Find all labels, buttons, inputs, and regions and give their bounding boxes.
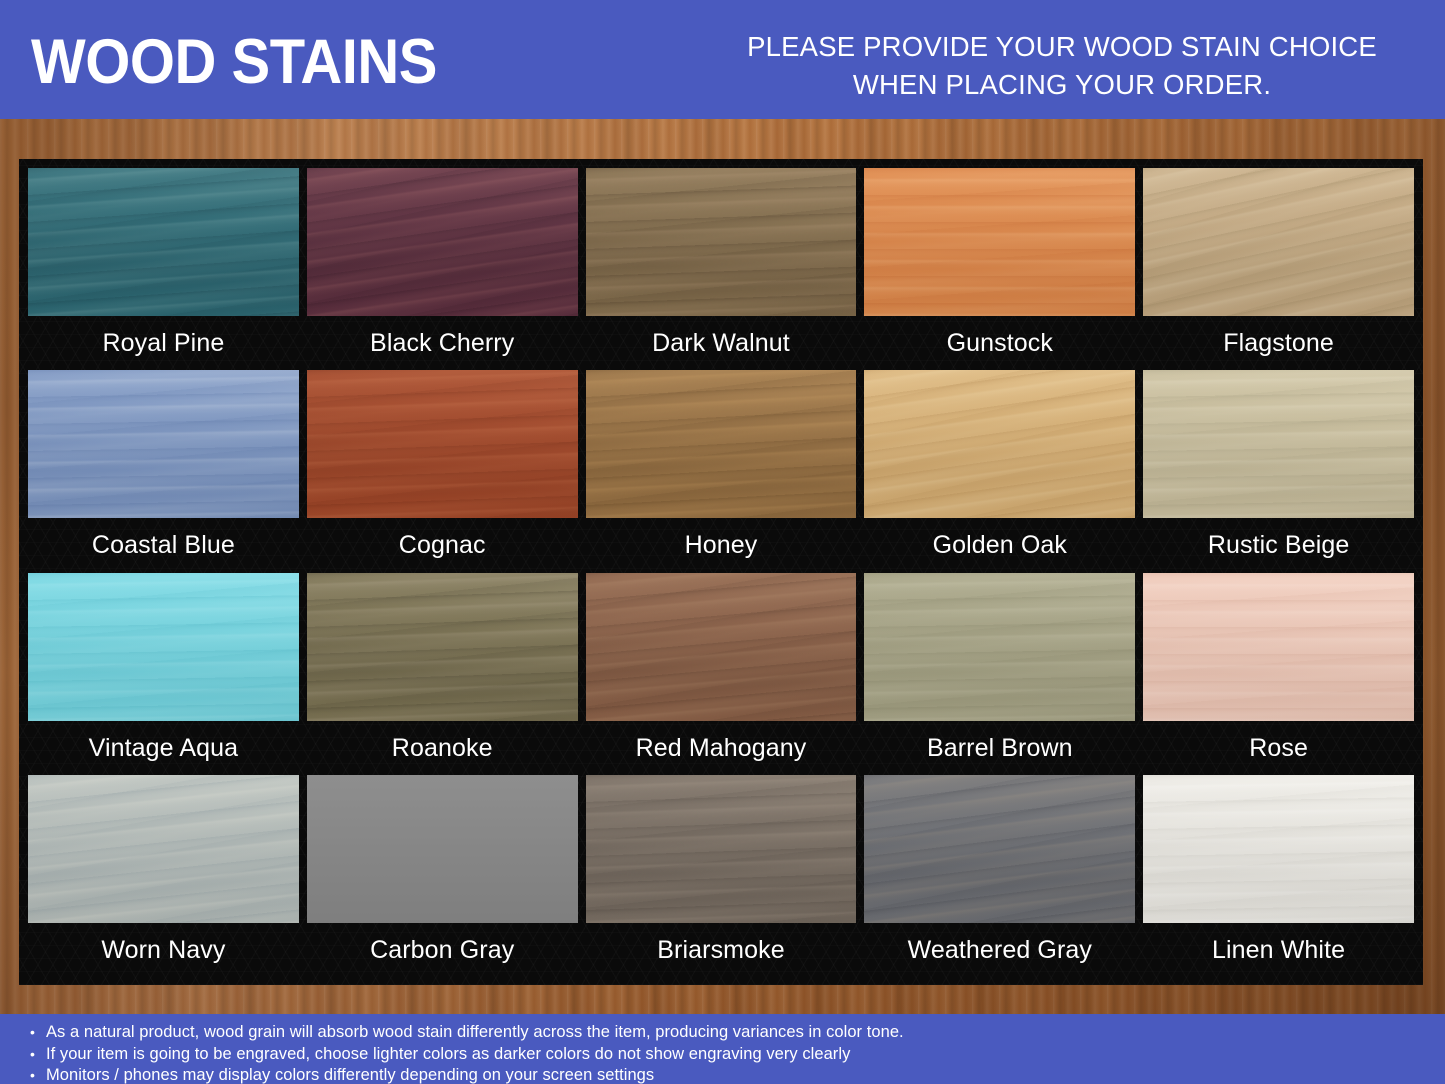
- stain-label: Gunstock: [864, 316, 1135, 369]
- stain-label: Red Mahogany: [586, 721, 857, 774]
- swatch-shading: [307, 168, 578, 316]
- footer-note-text: Monitors / phones may display colors dif…: [46, 1065, 654, 1084]
- stain-label: Honey: [586, 518, 857, 571]
- header-instruction: PLEASE PROVIDE YOUR WOOD STAIN CHOICE WH…: [717, 28, 1407, 104]
- stain-swatch[interactable]: [1143, 168, 1414, 316]
- stain-cell[interactable]: Golden Oak: [864, 370, 1135, 571]
- stain-cell[interactable]: Barrel Brown: [864, 573, 1135, 774]
- stain-swatch[interactable]: [586, 168, 857, 316]
- stain-swatch[interactable]: [307, 168, 578, 316]
- stain-swatch[interactable]: [28, 168, 299, 316]
- bullet-icon: •: [30, 1044, 46, 1066]
- footer-note-text: If your item is going to be engraved, ch…: [46, 1044, 850, 1066]
- stain-swatch[interactable]: [28, 775, 299, 923]
- stain-swatch[interactable]: [586, 370, 857, 518]
- stain-label: Linen White: [1143, 923, 1414, 976]
- stain-cell[interactable]: Rose: [1143, 573, 1414, 774]
- swatch-shading: [864, 573, 1135, 721]
- stain-cell[interactable]: Rustic Beige: [1143, 370, 1414, 571]
- stain-cell[interactable]: Weathered Gray: [864, 775, 1135, 976]
- stain-label: Cognac: [307, 518, 578, 571]
- page-title: WOOD STAINS: [31, 27, 437, 97]
- stain-label: Royal Pine: [28, 316, 299, 369]
- stain-swatch[interactable]: [1143, 775, 1414, 923]
- swatch-shading: [1143, 370, 1414, 518]
- swatch-shading: [586, 775, 857, 923]
- stain-label: Flagstone: [1143, 316, 1414, 369]
- header-instruction-line-1: PLEASE PROVIDE YOUR WOOD STAIN CHOICE: [717, 28, 1407, 66]
- stain-label: Barrel Brown: [864, 721, 1135, 774]
- stain-label: Weathered Gray: [864, 923, 1135, 976]
- footer-note-item: •As a natural product, wood grain will a…: [30, 1022, 1445, 1044]
- bullet-icon: •: [30, 1022, 46, 1044]
- stain-swatch[interactable]: [307, 775, 578, 923]
- header-instruction-line-2: WHEN PLACING YOUR ORDER.: [717, 66, 1407, 104]
- stain-label: Rose: [1143, 721, 1414, 774]
- stain-swatch[interactable]: [586, 573, 857, 721]
- stain-label: Briarsmoke: [586, 923, 857, 976]
- stain-cell[interactable]: Linen White: [1143, 775, 1414, 976]
- swatch-shading: [1143, 573, 1414, 721]
- stain-cell[interactable]: Dark Walnut: [586, 168, 857, 369]
- stain-label: Vintage Aqua: [28, 721, 299, 774]
- swatch-shading: [586, 370, 857, 518]
- stain-cell[interactable]: Worn Navy: [28, 775, 299, 976]
- stain-cell[interactable]: Carbon Gray: [307, 775, 578, 976]
- stain-label: Black Cherry: [307, 316, 578, 369]
- stain-grid: Royal PineBlack CherryDark WalnutGunstoc…: [28, 168, 1414, 976]
- stain-swatch[interactable]: [864, 370, 1135, 518]
- swatch-shading: [28, 370, 299, 518]
- footer-notes: •As a natural product, wood grain will a…: [0, 1014, 1445, 1084]
- stain-cell[interactable]: Cognac: [307, 370, 578, 571]
- stain-label: Golden Oak: [864, 518, 1135, 571]
- swatch-shading: [307, 775, 578, 923]
- stain-cell[interactable]: Black Cherry: [307, 168, 578, 369]
- stain-cell[interactable]: Briarsmoke: [586, 775, 857, 976]
- stain-label: Carbon Gray: [307, 923, 578, 976]
- stain-cell[interactable]: Vintage Aqua: [28, 573, 299, 774]
- swatch-shading: [28, 775, 299, 923]
- stain-cell[interactable]: Roanoke: [307, 573, 578, 774]
- stain-swatch[interactable]: [864, 775, 1135, 923]
- swatch-shading: [1143, 775, 1414, 923]
- stain-swatch-panel: Royal PineBlack CherryDark WalnutGunstoc…: [19, 159, 1423, 985]
- stain-swatch[interactable]: [28, 573, 299, 721]
- swatch-shading: [586, 573, 857, 721]
- stain-label: Roanoke: [307, 721, 578, 774]
- swatch-shading: [28, 573, 299, 721]
- stain-cell[interactable]: Red Mahogany: [586, 573, 857, 774]
- stain-swatch[interactable]: [864, 573, 1135, 721]
- swatch-shading: [586, 168, 857, 316]
- stain-cell[interactable]: Gunstock: [864, 168, 1135, 369]
- stain-label: Worn Navy: [28, 923, 299, 976]
- stain-cell[interactable]: Coastal Blue: [28, 370, 299, 571]
- swatch-shading: [307, 370, 578, 518]
- swatch-shading: [28, 168, 299, 316]
- swatch-shading: [864, 168, 1135, 316]
- stain-swatch[interactable]: [28, 370, 299, 518]
- stain-swatch[interactable]: [864, 168, 1135, 316]
- stain-label: Rustic Beige: [1143, 518, 1414, 571]
- stain-cell[interactable]: Honey: [586, 370, 857, 571]
- stain-swatch[interactable]: [1143, 370, 1414, 518]
- stain-cell[interactable]: Flagstone: [1143, 168, 1414, 369]
- swatch-shading: [1143, 168, 1414, 316]
- swatch-shading: [864, 370, 1135, 518]
- header-banner: WOOD STAINS PLEASE PROVIDE YOUR WOOD STA…: [0, 0, 1445, 119]
- stain-swatch[interactable]: [586, 775, 857, 923]
- footer-note-item: •Monitors / phones may display colors di…: [30, 1065, 1445, 1084]
- bullet-icon: •: [30, 1065, 46, 1084]
- stain-swatch[interactable]: [307, 370, 578, 518]
- stain-swatch[interactable]: [1143, 573, 1414, 721]
- footer-note-item: •If your item is going to be engraved, c…: [30, 1044, 1445, 1066]
- swatch-shading: [307, 573, 578, 721]
- stain-swatch[interactable]: [307, 573, 578, 721]
- stain-label: Coastal Blue: [28, 518, 299, 571]
- stain-cell[interactable]: Royal Pine: [28, 168, 299, 369]
- stain-label: Dark Walnut: [586, 316, 857, 369]
- swatch-shading: [864, 775, 1135, 923]
- footer-note-text: As a natural product, wood grain will ab…: [46, 1022, 904, 1044]
